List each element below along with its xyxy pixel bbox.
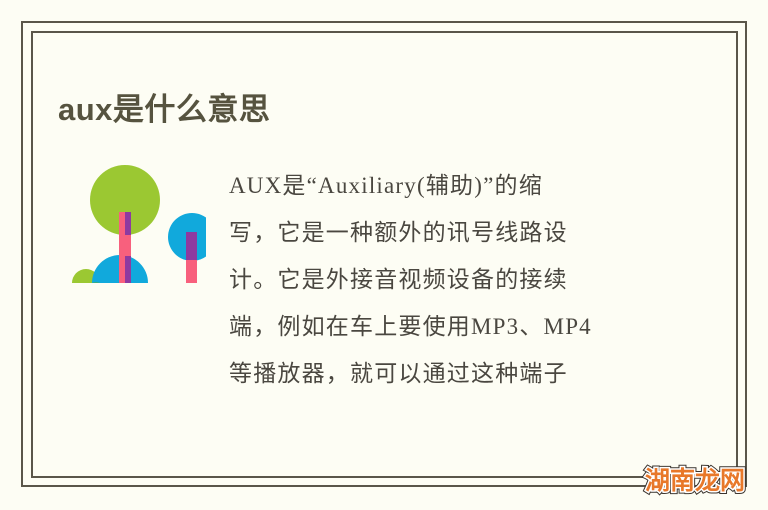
tree-shapes-group [72, 165, 206, 283]
left-trunk-overlap-canopy [125, 212, 131, 235]
body-line: 写，它是一种额外的讯号线路设 [229, 209, 653, 256]
page-title: aux是什么意思 [58, 91, 270, 129]
body-line: AUX是“Auxiliary(辅助)”的缩 [229, 162, 653, 209]
body-line: 计。它是外接音视频设备的接续 [229, 256, 653, 303]
trees-illustration [66, 156, 206, 288]
right-trunk-overlap [186, 232, 197, 260]
site-watermark: 湖南龙网 [645, 462, 745, 496]
article-body: AUX是“Auxiliary(辅助)”的缩 写，它是一种额外的讯号线路设 计。它… [229, 162, 653, 397]
body-line: 等播放器，就可以通过这种端子 [229, 350, 653, 397]
article-page: aux是什么意思 [0, 0, 768, 510]
body-line: 端，例如在车上要使用MP3、MP4 [229, 303, 653, 350]
left-trunk-overlap-bush [125, 256, 131, 283]
